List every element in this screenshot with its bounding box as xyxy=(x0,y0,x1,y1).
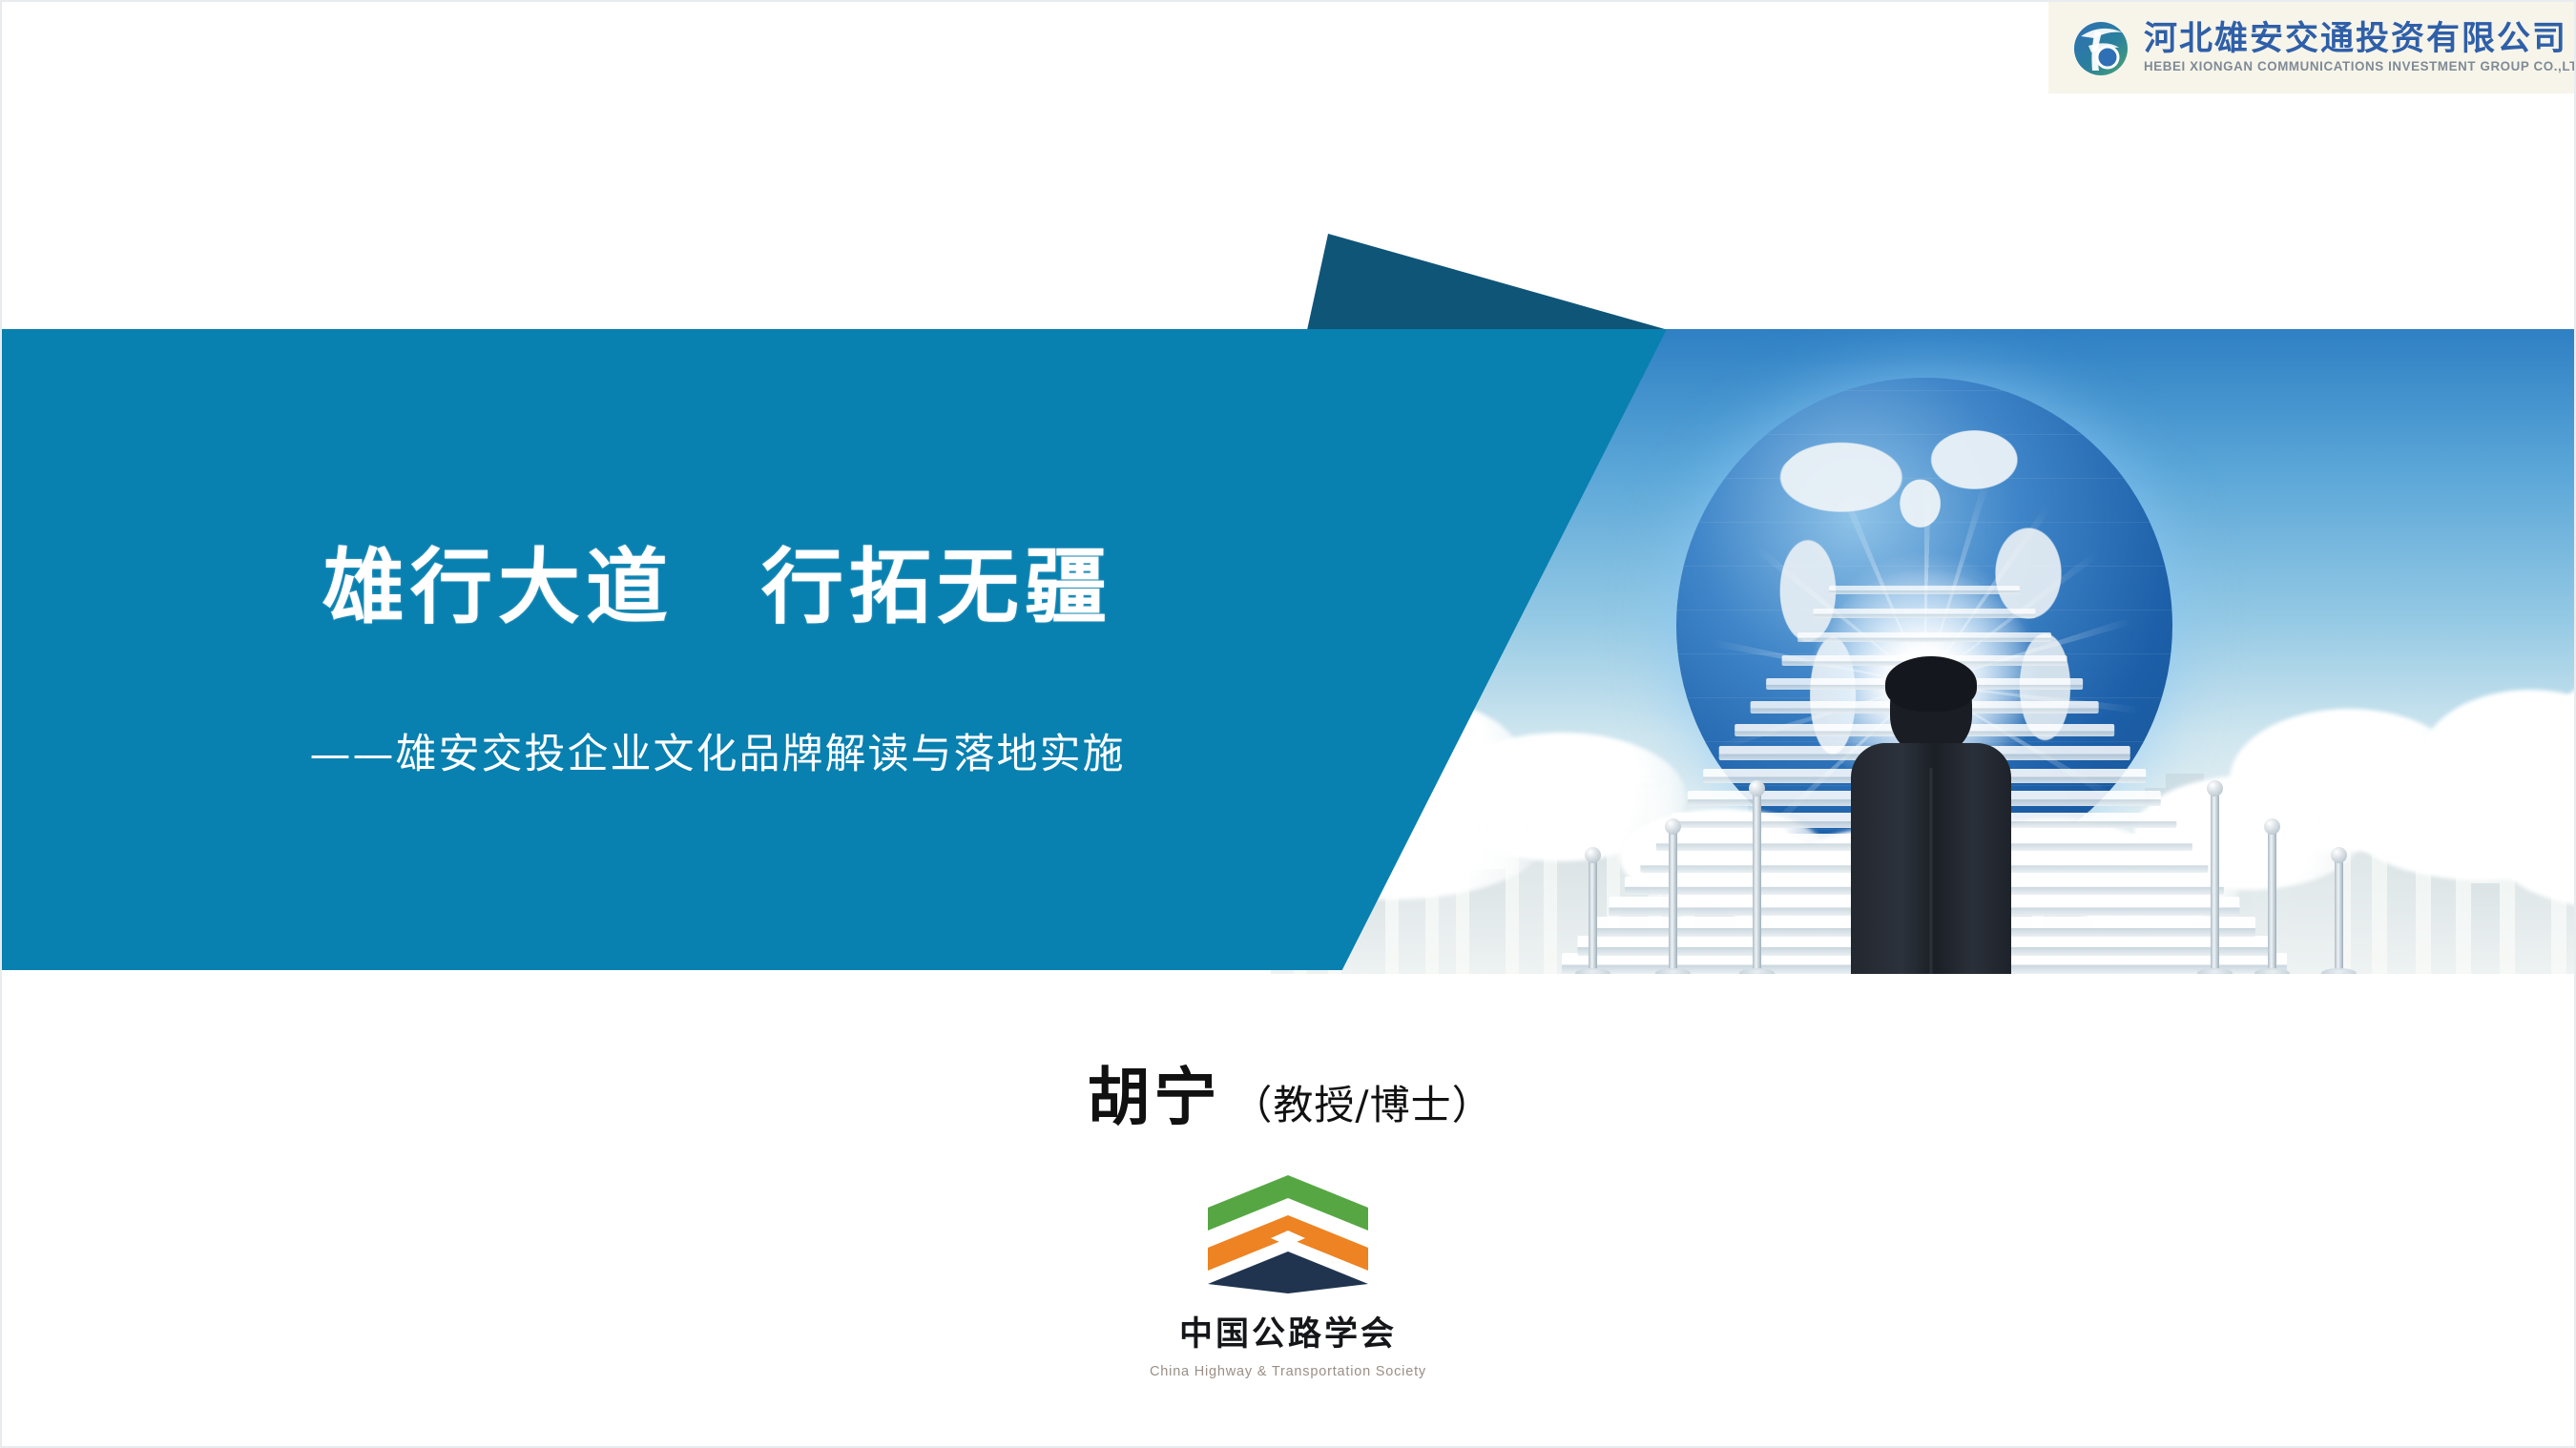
stair-bollard xyxy=(1753,793,1761,974)
stair-step xyxy=(1814,609,2036,618)
stair-bollard xyxy=(2268,831,2276,974)
stair-bollard xyxy=(1669,831,1677,974)
stair-bollard xyxy=(2335,859,2343,974)
corporate-name-en: HEBEI XIONGAN COMMUNICATIONS INVESTMENT … xyxy=(2144,60,2576,73)
society-logo: 中国公路学会 China Highway & Transportation So… xyxy=(1145,1173,1431,1379)
stair-bollard xyxy=(2211,793,2219,974)
accent-triangle xyxy=(1299,234,1672,331)
corporate-logo: 河北雄安交通投资有限公司 HEBEI XIONGAN COMMUNICATION… xyxy=(2048,2,2576,93)
presenter-name: 胡宁 xyxy=(1087,1046,1220,1138)
presenter-line: 胡宁 （教授/博士） xyxy=(2,1046,2576,1138)
corporate-name-cn: 河北雄安交通投资有限公司 xyxy=(2144,22,2576,55)
corporate-logo-text: 河北雄安交通投资有限公司 HEBEI XIONGAN COMMUNICATION… xyxy=(2144,22,2576,73)
stair-step xyxy=(1797,632,2051,643)
businessman-figure xyxy=(1849,663,2013,974)
stair-step xyxy=(1829,586,2020,594)
presenter-title: （教授/博士） xyxy=(1232,1073,1492,1131)
presentation-slide: 雄行大道 行拓无疆 ——雄安交投企业文化品牌解读与落地实施 xyxy=(0,0,2576,1448)
society-name-en: China Highway & Transportation Society xyxy=(1150,1364,1426,1379)
china-highway-society-chevron-mark-icon xyxy=(1206,1173,1370,1295)
society-name-cn: 中国公路学会 xyxy=(1179,1307,1397,1355)
figure-head xyxy=(1890,663,1972,755)
figure-suit xyxy=(1851,743,2011,974)
stair-bollard xyxy=(1589,859,1597,974)
hebei-xiongan-globe-emblem-icon xyxy=(2069,17,2132,78)
